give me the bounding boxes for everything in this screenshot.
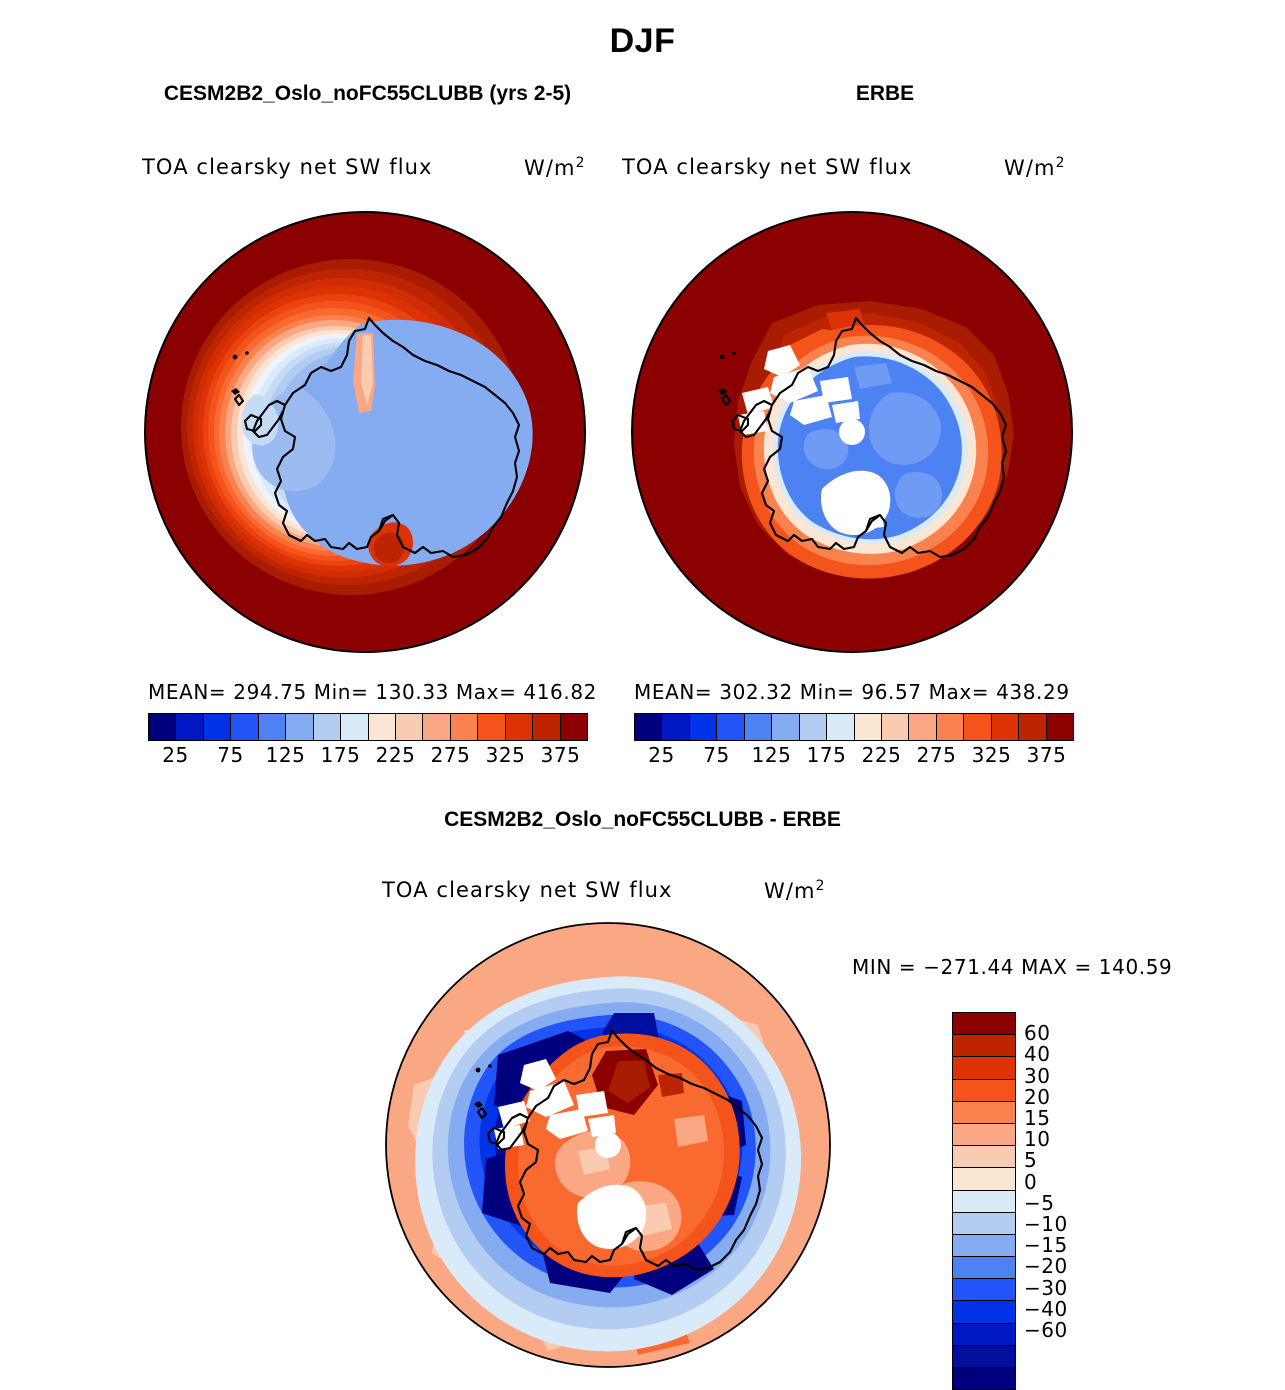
- colorbar-cell: [176, 714, 203, 740]
- obs-panel-title: ERBE: [610, 82, 1160, 106]
- difference-colorbar-labels: 60403020151050−5−10−15−20−30−40−60: [1024, 1012, 1114, 1372]
- colorbar-cell: [690, 714, 717, 740]
- colorbar-cell: [953, 1346, 1015, 1368]
- colorbar-cell: [369, 714, 396, 740]
- colorbar-cell: [1019, 714, 1046, 740]
- colorbar-cell: [953, 1213, 1015, 1235]
- obs-stats: MEAN= 302.32 Min= 96.57 Max= 438.29: [634, 680, 1070, 704]
- difference-polar-map: [378, 915, 838, 1375]
- model-colorbar-labels: 2575125175225275325375: [148, 743, 588, 773]
- colorbar-tick-label: 225: [376, 743, 416, 767]
- colorbar-cell: [953, 1191, 1015, 1213]
- colorbar-tick-label: 225: [862, 743, 902, 767]
- colorbar-cell: [717, 714, 744, 740]
- colorbar-cell: [231, 714, 258, 740]
- colorbar-tick-label: 175: [807, 743, 847, 767]
- model-colorbar-swatches: [148, 713, 588, 741]
- colorbar-tick-label: 175: [321, 743, 361, 767]
- model-units-label: W/m2: [524, 155, 586, 180]
- colorbar-tick-label: 375: [1027, 743, 1067, 767]
- colorbar-tick-label: 375: [541, 743, 581, 767]
- colorbar-cell: [772, 714, 799, 740]
- colorbar-cell: [745, 714, 772, 740]
- colorbar-cell: [314, 714, 341, 740]
- colorbar-cell: [953, 1013, 1015, 1035]
- colorbar-cell: [937, 714, 964, 740]
- colorbar-cell: [953, 1146, 1015, 1168]
- difference-colorbar-swatches: [952, 1012, 1016, 1390]
- colorbar-cell: [953, 1257, 1015, 1279]
- colorbar-tick-label: 325: [972, 743, 1012, 767]
- colorbar-cell: [341, 714, 368, 740]
- colorbar-cell: [662, 714, 689, 740]
- obs-colorbar-swatches: [634, 713, 1074, 741]
- colorbar-cell: [953, 1057, 1015, 1079]
- colorbar-cell: [635, 714, 662, 740]
- colorbar-cell: [855, 714, 882, 740]
- colorbar-cell: [953, 1279, 1015, 1301]
- difference-minmax-label: MIN = −271.44 MAX = 140.59: [852, 955, 1172, 979]
- colorbar-tick-label: 275: [917, 743, 957, 767]
- colorbar-cell: [953, 1080, 1015, 1102]
- colorbar-cell: [909, 714, 936, 740]
- colorbar-tick-label: 125: [266, 743, 306, 767]
- colorbar-cell: [149, 714, 176, 740]
- obs-colorbar-labels: 2575125175225275325375: [634, 743, 1074, 773]
- colorbar-cell: [1047, 714, 1073, 740]
- colorbar-cell: [953, 1235, 1015, 1257]
- colorbar-cell: [451, 714, 478, 740]
- model-field-label: TOA clearsky net SW flux: [142, 155, 433, 179]
- colorbar-cell: [953, 1035, 1015, 1057]
- colorbar-tick-label: 325: [486, 743, 526, 767]
- colorbar-cell: [953, 1368, 1015, 1389]
- colorbar-tick-label: 275: [431, 743, 471, 767]
- colorbar-tick-label: 25: [648, 743, 674, 767]
- colorbar-cell: [953, 1124, 1015, 1146]
- colorbar-cell: [396, 714, 423, 740]
- colorbar-cell: [992, 714, 1019, 740]
- colorbar-cell: [827, 714, 854, 740]
- colorbar-cell: [800, 714, 827, 740]
- colorbar-cell: [964, 714, 991, 740]
- colorbar-tick-label: 125: [752, 743, 792, 767]
- colorbar-cell: [478, 714, 505, 740]
- colorbar-cell: [286, 714, 313, 740]
- difference-colorbar: 60403020151050−5−10−15−20−30−40−60: [952, 1012, 1016, 1390]
- difference-panel-title: CESM2B2_Oslo_noFC55CLUBB - ERBE: [0, 808, 1285, 832]
- model-colorbar: 2575125175225275325375: [148, 713, 588, 773]
- colorbar-tick-label: 25: [162, 743, 188, 767]
- difference-units-label: W/m2: [764, 878, 826, 903]
- colorbar-tick-label: 75: [217, 743, 243, 767]
- obs-field-label: TOA clearsky net SW flux: [622, 155, 913, 179]
- colorbar-tick-label: −60: [1024, 1318, 1068, 1342]
- obs-units-label: W/m2: [1004, 155, 1066, 180]
- colorbar-cell: [259, 714, 286, 740]
- colorbar-cell: [882, 714, 909, 740]
- colorbar-tick-label: 75: [703, 743, 729, 767]
- obs-colorbar: 2575125175225275325375: [634, 713, 1074, 773]
- model-polar-map: [135, 205, 595, 660]
- colorbar-cell: [423, 714, 450, 740]
- colorbar-cell: [953, 1301, 1015, 1323]
- colorbar-cell: [953, 1102, 1015, 1124]
- colorbar-cell: [953, 1168, 1015, 1190]
- colorbar-cell: [561, 714, 587, 740]
- season-title: DJF: [0, 22, 1285, 61]
- colorbar-cell: [953, 1324, 1015, 1346]
- model-stats: MEAN= 294.75 Min= 130.33 Max= 416.82: [148, 680, 597, 704]
- difference-field-label: TOA clearsky net SW flux: [382, 878, 673, 902]
- colorbar-cell: [506, 714, 533, 740]
- colorbar-cell: [204, 714, 231, 740]
- obs-polar-map: [622, 205, 1082, 660]
- colorbar-cell: [533, 714, 560, 740]
